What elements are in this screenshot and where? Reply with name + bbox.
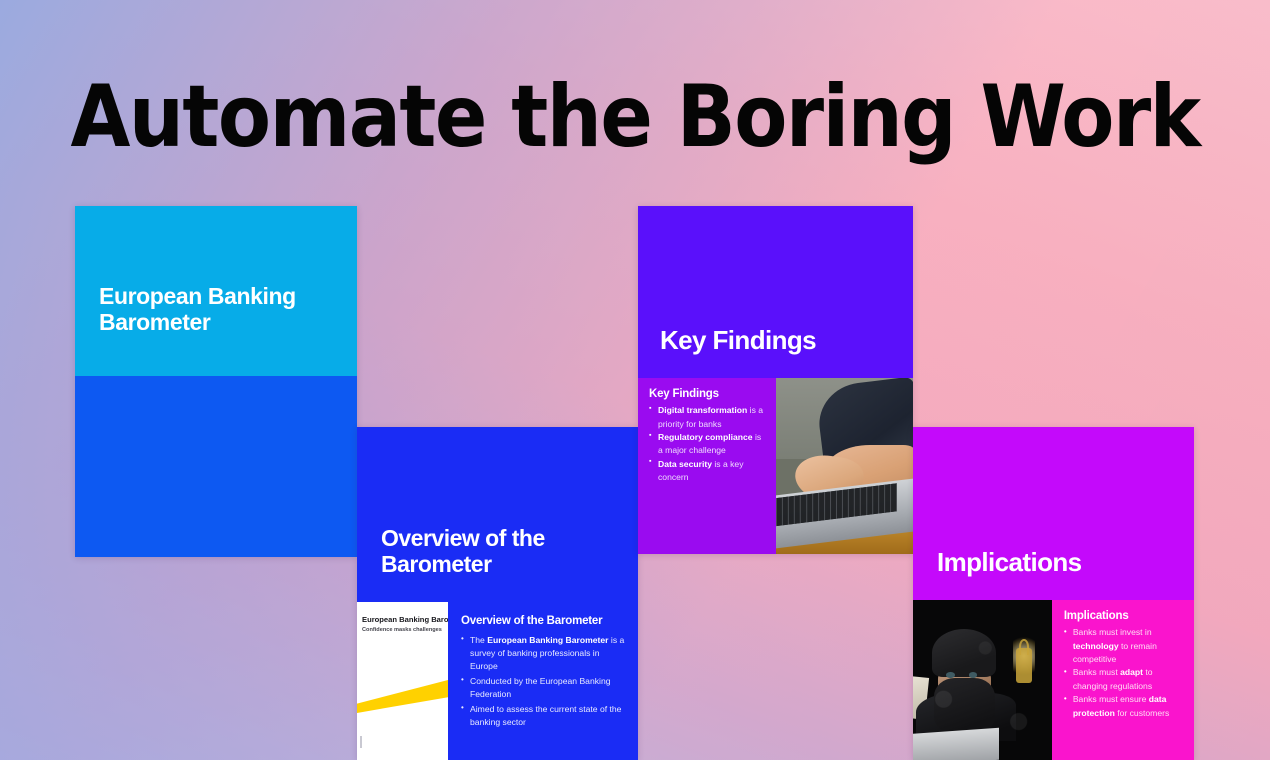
overview-body: Overview of the Barometer The European B…: [448, 602, 638, 760]
outline-cover-pane: European Banking Barometer: [75, 206, 357, 376]
deck-title: European Banking Barometer: [99, 284, 357, 336]
chart-thumbnail: European Banking Barometer Confidence ma…: [357, 602, 448, 760]
list-item: Conducted by the European Banking Federa…: [461, 675, 626, 702]
overview-content-pane: European Banking Barometer Confidence ma…: [357, 602, 638, 760]
page-title: Automate the Boring Work: [0, 74, 1270, 160]
masked-hacker-photo: [913, 600, 1052, 760]
chart-thumbnail-title: European Banking Barometer: [362, 615, 448, 624]
list-item: Data security is a key concern: [649, 458, 766, 485]
implications-body-heading: Implications: [1064, 610, 1184, 622]
chart-thumbnail-subtitle: Confidence masks challenges: [362, 627, 448, 633]
overview-body-heading: Overview of the Barometer: [461, 615, 626, 628]
findings-content-pane: Key Findings Digital transformation is a…: [638, 378, 913, 554]
chart-wedge-shape: [357, 674, 448, 714]
laptop-typing-photo: [776, 378, 913, 554]
slide-card-outline[interactable]: European Banking Barometer Outline Overv…: [75, 206, 357, 557]
list-item: Aimed to assess the current state of the…: [461, 703, 626, 730]
photo-watermark: [913, 600, 1052, 760]
list-item: Banks must invest in technology to remai…: [1064, 626, 1184, 666]
list-item: Regulatory compliance is a major challen…: [649, 431, 766, 458]
list-item: The European Banking Barometer is a surv…: [461, 634, 626, 674]
outline-content-pane: Outline Overview of the Barometer Key Fi…: [75, 376, 357, 557]
implications-body: Implications Banks must invest in techno…: [1052, 600, 1194, 760]
list-item: Digital transformation is a priority for…: [649, 404, 766, 431]
findings-body-heading: Key Findings: [649, 388, 766, 400]
findings-body: Key Findings Digital transformation is a…: [638, 378, 776, 554]
findings-bullet-list: Digital transformation is a priority for…: [649, 404, 766, 484]
overview-bullet-list: The European Banking Barometer is a surv…: [461, 634, 626, 730]
implications-content-pane: Implications Banks must invest in techno…: [913, 600, 1194, 760]
chart-axis-tick: [360, 736, 362, 748]
implications-bullet-list: Banks must invest in technology to remai…: [1064, 626, 1184, 720]
overview-slide-title: Overview of the Barometer: [381, 525, 614, 578]
list-item: Banks must ensure data protection for cu…: [1064, 693, 1184, 720]
slide-collage-canvas: Automate the Boring Work European Bankin…: [0, 0, 1270, 760]
findings-title-pane: Key Findings: [638, 206, 913, 378]
slide-card-overview[interactable]: Overview of the Barometer European Banki…: [357, 427, 638, 760]
list-item: Banks must adapt to changing regulations: [1064, 666, 1184, 693]
overview-thumbnail-slot: European Banking Barometer Confidence ma…: [357, 602, 448, 760]
implications-title-pane: Implications: [913, 427, 1194, 600]
implications-slide-title: Implications: [937, 547, 1178, 578]
findings-slide-title: Key Findings: [660, 325, 897, 356]
findings-photo-slot: [776, 378, 913, 554]
implications-photo-slot: [913, 600, 1052, 760]
overview-title-pane: Overview of the Barometer: [357, 427, 638, 602]
slide-card-implications[interactable]: Implications: [913, 427, 1194, 760]
slide-card-key-findings[interactable]: Key Findings Key Findings Digital transf…: [638, 206, 913, 554]
